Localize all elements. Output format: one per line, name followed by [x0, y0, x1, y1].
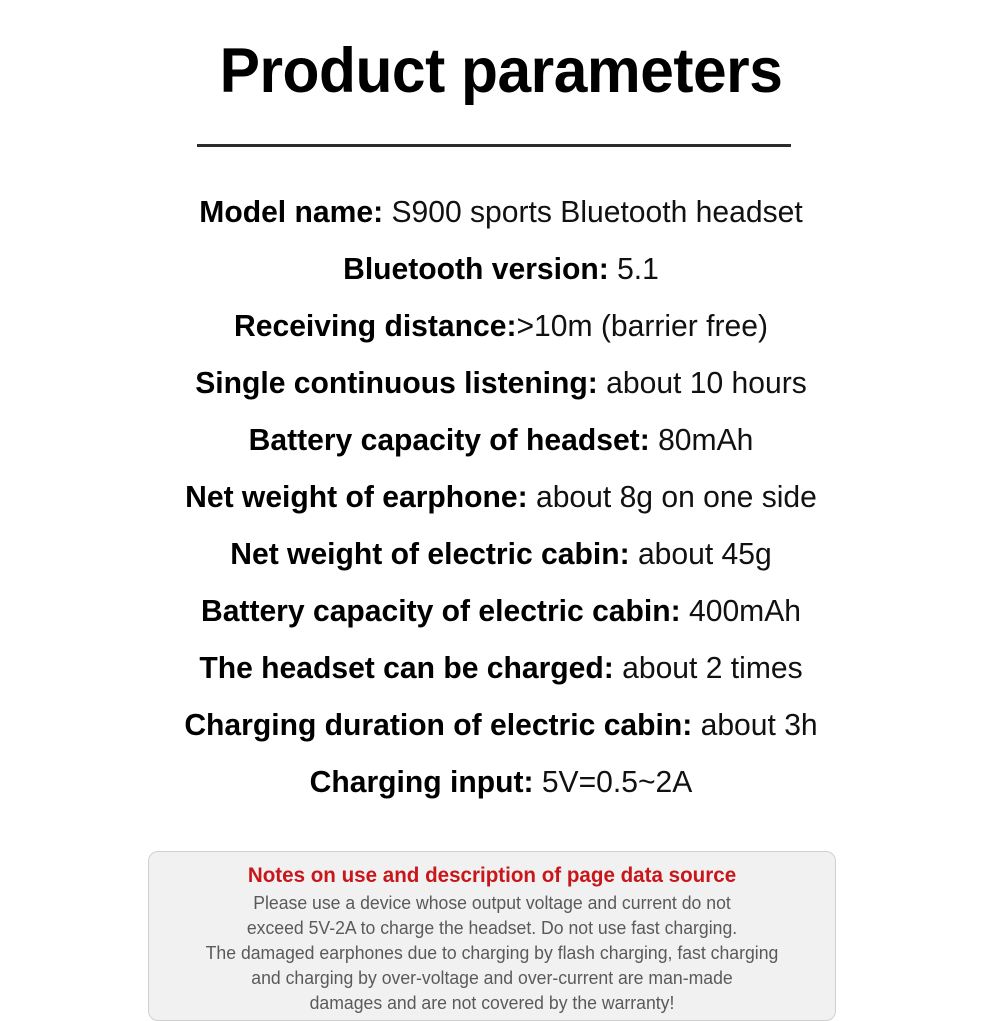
parameter-row: Receiving distance:>10m (barrier free) — [15, 297, 987, 354]
parameter-value: about 2 times — [614, 650, 803, 685]
parameter-value: 400mAh — [681, 593, 801, 628]
parameter-label: Receiving distance: — [234, 308, 516, 343]
parameter-value: about 8g on one side — [528, 479, 817, 514]
parameter-label: Net weight of earphone: — [185, 479, 527, 514]
parameter-label: Charging input: — [310, 764, 534, 799]
notes-panel: Notes on use and description of page dat… — [148, 851, 836, 1021]
product-parameters-page: Product parameters Model name: S900 spor… — [0, 0, 1002, 1002]
parameter-row: Single continuous listening: about 10 ho… — [15, 354, 987, 411]
parameter-row: Charging input: 5V=0.5~2A — [15, 753, 987, 810]
parameter-label: Single continuous listening: — [195, 365, 598, 400]
page-title: Product parameters — [20, 38, 982, 104]
title-divider — [197, 144, 791, 147]
parameter-label: Charging duration of electric cabin: — [184, 707, 692, 742]
parameter-label: Model name: — [199, 194, 383, 229]
notes-line: damages and are not covered by the warra… — [177, 991, 806, 1016]
parameter-label: Bluetooth version: — [343, 251, 609, 286]
parameter-label: The headset can be charged: — [199, 650, 613, 685]
parameter-value: >10m (barrier free) — [516, 308, 768, 343]
notes-heading: Notes on use and description of page dat… — [177, 862, 806, 890]
parameter-value: about 3h — [692, 707, 817, 742]
parameter-label: Net weight of electric cabin: — [230, 536, 629, 571]
notes-line: The damaged earphones due to charging by… — [177, 941, 806, 966]
notes-line: exceed 5V-2A to charge the headset. Do n… — [177, 916, 806, 941]
parameter-row: Bluetooth version: 5.1 — [15, 240, 987, 297]
parameter-value: 5V=0.5~2A — [533, 764, 692, 799]
parameter-value: 5.1 — [609, 251, 659, 286]
notes-line: Please use a device whose output voltage… — [177, 891, 806, 916]
parameter-label: Battery capacity of electric cabin: — [201, 593, 681, 628]
parameter-row: Battery capacity of headset: 80mAh — [15, 411, 987, 468]
parameter-value: about 45g — [630, 536, 772, 571]
parameter-list: Model name: S900 sports Bluetooth headse… — [0, 183, 1002, 810]
notes-line: and charging by over-voltage and over-cu… — [177, 966, 806, 991]
parameter-value: about 10 hours — [598, 365, 807, 400]
parameter-row: Net weight of earphone: about 8g on one … — [15, 468, 987, 525]
parameter-value: S900 sports Bluetooth headset — [383, 194, 803, 229]
parameter-row: The headset can be charged: about 2 time… — [15, 639, 987, 696]
parameter-row: Net weight of electric cabin: about 45g — [15, 525, 987, 582]
parameter-row: Charging duration of electric cabin: abo… — [15, 696, 987, 753]
parameter-label: Battery capacity of headset: — [249, 422, 650, 457]
parameter-row: Battery capacity of electric cabin: 400m… — [15, 582, 987, 639]
parameter-row: Model name: S900 sports Bluetooth headse… — [15, 183, 987, 240]
notes-body: Please use a device whose output voltage… — [171, 891, 813, 1016]
parameter-value: 80mAh — [650, 422, 754, 457]
